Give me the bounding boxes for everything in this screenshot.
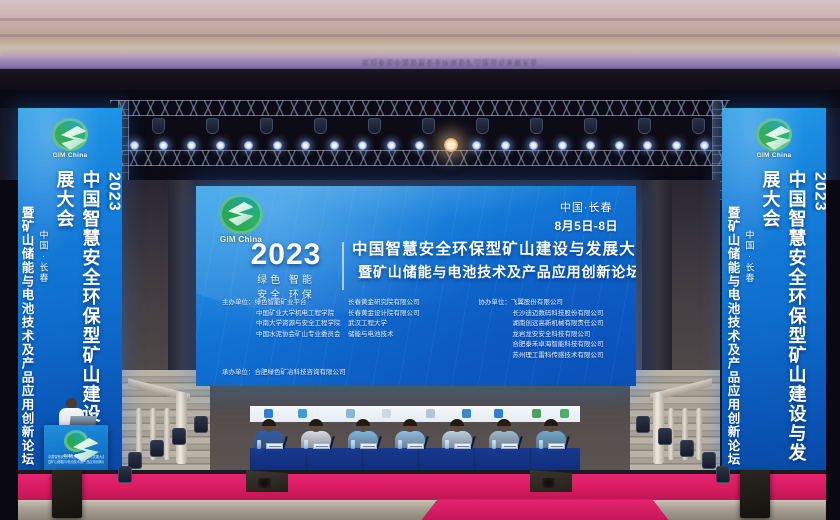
floor-moving-head-light	[150, 440, 164, 457]
stage-lamp	[643, 141, 652, 150]
stage-lamp	[586, 141, 595, 150]
host-label: 主办单位：	[222, 299, 255, 306]
co-col-3: 龙岩龙安安全科技有限公司	[478, 330, 626, 341]
stage-lamp	[444, 138, 458, 152]
podium-logo: GIM China	[56, 430, 96, 458]
host-col2-0: 长春黄金研究院有限公司	[348, 298, 456, 309]
banner-right-logo: GIM China	[745, 118, 803, 159]
stage-lamp	[358, 141, 367, 150]
co-col-2: 湖南创远高新机械有限责任公司	[478, 319, 626, 330]
host-col2-1: 长春黄金设计院有限公司	[348, 309, 456, 320]
co-col-0: 飞翼股份有限公司	[511, 299, 563, 306]
stage-lamp	[700, 141, 709, 150]
floor-monitor-right	[530, 470, 572, 492]
speaker-tower-left	[52, 470, 82, 518]
host-col2-2: 武汉工程大学	[348, 319, 456, 330]
host-column-1: 主办单位：绿色智能矿业平台 中国矿业大学机电工程学院 中南大学资源与安全工程学院…	[222, 298, 348, 361]
moving-head-light	[476, 118, 489, 134]
event-year: 2023	[238, 240, 334, 270]
panelist-hair	[450, 419, 464, 426]
moving-head-light	[314, 118, 327, 134]
co-col-4: 合肥泰禾卓海智能科技有限公司	[478, 340, 626, 351]
gim-swoosh-icon	[219, 194, 263, 234]
stage-lamp	[273, 141, 282, 150]
gim-logo-text: GIM China	[41, 152, 99, 159]
podium-text: 中国智慧安全环保型矿山建设与发展大会 暨矿山储能与电池技术及产品应用创新论坛	[48, 455, 104, 466]
organizer-value: 合肥绿色矿冶科技咨询有限公司	[255, 369, 346, 376]
conference-title: 中国智慧安全环保型矿山建设与发展大会	[352, 240, 624, 261]
water-bottle	[539, 440, 543, 449]
water-bottle	[351, 440, 355, 449]
gim-abbr: GIM	[53, 152, 66, 159]
floor-moving-head-light	[118, 466, 132, 483]
water-bottle	[398, 440, 402, 449]
carpet-runner	[422, 499, 669, 519]
floor-moving-head-light	[194, 416, 208, 433]
gim-abbr: GIM	[220, 235, 236, 244]
moving-head-light	[530, 118, 543, 134]
stage-lamp	[244, 141, 253, 150]
name-plate	[501, 443, 518, 449]
banner-left-logo: GIM China	[41, 118, 99, 159]
ceiling-reflected-text: 欢迎参加中国智慧安全环保型矿山建设与发展大会	[300, 57, 600, 67]
stage-lamp	[472, 141, 481, 150]
panelist-hair	[497, 419, 511, 426]
speaker-tower-right	[740, 470, 770, 518]
host-column-2: 长春黄金研究院有限公司 长春黄金设计院有限公司 武汉工程大学 储能与电池技术	[348, 298, 456, 361]
ceiling	[0, 0, 840, 62]
name-plate	[548, 443, 565, 449]
floor-moving-head-light	[172, 428, 186, 445]
stage-lamp	[159, 141, 168, 150]
moving-head-light	[638, 118, 651, 134]
water-bottle	[492, 440, 496, 449]
host-col1-2: 中南大学资源与安全工程学院	[222, 319, 348, 330]
gim-region: China	[68, 152, 88, 159]
banner-right-subtitle: 暨矿山储能与电池技术及产品应用创新论坛	[724, 206, 743, 472]
banner-right-year: 2023	[811, 172, 827, 232]
strip-icon-8	[532, 409, 541, 418]
edge-shadow-left	[0, 180, 18, 520]
organizer-block: 主办单位：绿色智能矿业平台 中国矿业大学机电工程学院 中南大学资源与安全工程学院…	[222, 298, 626, 379]
host-col2-3: 储能与电池技术	[348, 330, 456, 341]
lighting-truss-upper	[110, 100, 730, 116]
stage-lamp	[216, 141, 225, 150]
stage-lamp	[672, 141, 681, 150]
stage-lamp	[529, 141, 538, 150]
panelist-hair	[262, 419, 276, 426]
floor-moving-head-light	[702, 452, 716, 469]
strip-icon-2	[298, 409, 307, 418]
water-bottle	[445, 440, 449, 449]
stage-lamp	[387, 141, 396, 150]
conference-subtitle: 暨矿山储能与电池技术及产品应用创新论坛	[352, 263, 624, 282]
co-col-5: 苏州理工雷科传感技术有限公司	[478, 351, 626, 362]
strip-icon-4	[382, 409, 391, 418]
strip-icon-1	[264, 409, 273, 418]
edge-shadow-right	[826, 180, 840, 520]
title-divider	[342, 242, 344, 290]
banner-left-subtitle: 暨矿山储能与电池技术及产品应用创新论坛	[18, 206, 37, 472]
moving-head-light	[422, 118, 435, 134]
floor-moving-head-light	[636, 416, 650, 433]
floor-moving-head-light	[680, 440, 694, 457]
moving-head-light	[692, 118, 705, 134]
event-date: 8月5日-8日	[554, 217, 618, 235]
co-organizer-column: 协办单位：飞翼股份有限公司 长沙迪迈数码科技股份有限公司 湖南创远高新机械有限责…	[478, 298, 626, 361]
host-col1-0: 绿色智能矿业平台	[255, 299, 307, 306]
strip-icon-9	[560, 409, 569, 418]
gim-swoosh-icon	[52, 118, 88, 151]
stage-lamp	[130, 141, 139, 150]
podium-line-2: 暨矿山储能与电池技术及产品应用创新论坛	[48, 460, 104, 465]
lighting-truss-middle	[122, 150, 722, 166]
strip-icon-7	[494, 409, 503, 418]
co-organizer-label: 协办单位：	[478, 299, 511, 306]
vertical-banner-right: GIM China 2023 中国智慧安全环保型矿山建设与发展大会 中国·长春 …	[722, 108, 826, 480]
screen-title-block: 中国智慧安全环保型矿山建设与发展大会 暨矿山储能与电池技术及产品应用创新论坛	[352, 240, 624, 282]
main-led-screen: GIM China 中国·长春 8月5日-8日 2023 绿色 智能 安全 环保…	[196, 186, 636, 386]
strip-icon-6	[462, 409, 471, 418]
name-plate	[360, 443, 377, 449]
banner-right-title: 中国智慧安全环保型矿山建设与发展大会	[758, 170, 810, 472]
strip-icon-5	[426, 409, 435, 418]
moving-head-light	[584, 118, 597, 134]
moving-head-light	[152, 118, 165, 134]
screen-event-meta: 中国·长春 8月5日-8日	[554, 200, 618, 235]
floor-monitor-left	[246, 470, 288, 492]
stage-lamp	[558, 141, 567, 150]
stage-lamp	[615, 141, 624, 150]
water-bottle	[257, 440, 261, 449]
floor-moving-head-light	[658, 428, 672, 445]
slogan-line-1: 绿色 智能	[238, 274, 334, 289]
gim-region: China	[772, 152, 792, 159]
moving-head-light	[206, 118, 219, 134]
banner-right-meta: 中国·长春	[744, 230, 757, 472]
water-bottle	[304, 440, 308, 449]
panelist-hair	[356, 419, 370, 426]
name-plate	[266, 443, 283, 449]
host-col1-1: 中国矿业大学机电工程学院	[222, 309, 348, 320]
gim-logo-text: GIM China	[745, 152, 803, 159]
banner-left-year: 2023	[105, 172, 123, 232]
name-plate	[454, 443, 471, 449]
host-col1-3: 中国水泥协会矿山专业委员会	[222, 330, 348, 341]
panelist-hair	[544, 419, 558, 426]
stage-lamp	[187, 141, 196, 150]
floor-moving-head-light	[716, 466, 730, 483]
moving-head-light	[260, 118, 273, 134]
panelist-hair	[309, 419, 323, 426]
organizer-line: 承办单位：合肥绿色矿冶科技咨询有限公司	[222, 368, 626, 379]
name-plate	[313, 443, 330, 449]
stage-lamp	[415, 141, 424, 150]
stage-lamp	[501, 141, 510, 150]
co-col-1: 长沙迪迈数码科技股份有限公司	[478, 309, 626, 320]
panelist-hair	[403, 419, 417, 426]
event-city: 中国·长春	[554, 200, 618, 217]
floor-apron	[0, 500, 840, 520]
gim-swoosh-icon	[756, 118, 792, 151]
gim-abbr: GIM	[757, 152, 770, 159]
strip-icon-3	[346, 409, 355, 418]
organizer-label: 承办单位：	[222, 369, 255, 376]
stage-lamp	[301, 141, 310, 150]
gim-swoosh-icon	[64, 430, 88, 452]
stage-photograph: 欢迎参加中国智慧安全环保型矿山建设与发展大会 GIM C	[0, 0, 840, 520]
name-plate	[407, 443, 424, 449]
stage-lamp	[330, 141, 339, 150]
screen-year-block: 2023 绿色 智能 安全 环保	[238, 240, 334, 303]
moving-head-light	[368, 118, 381, 134]
